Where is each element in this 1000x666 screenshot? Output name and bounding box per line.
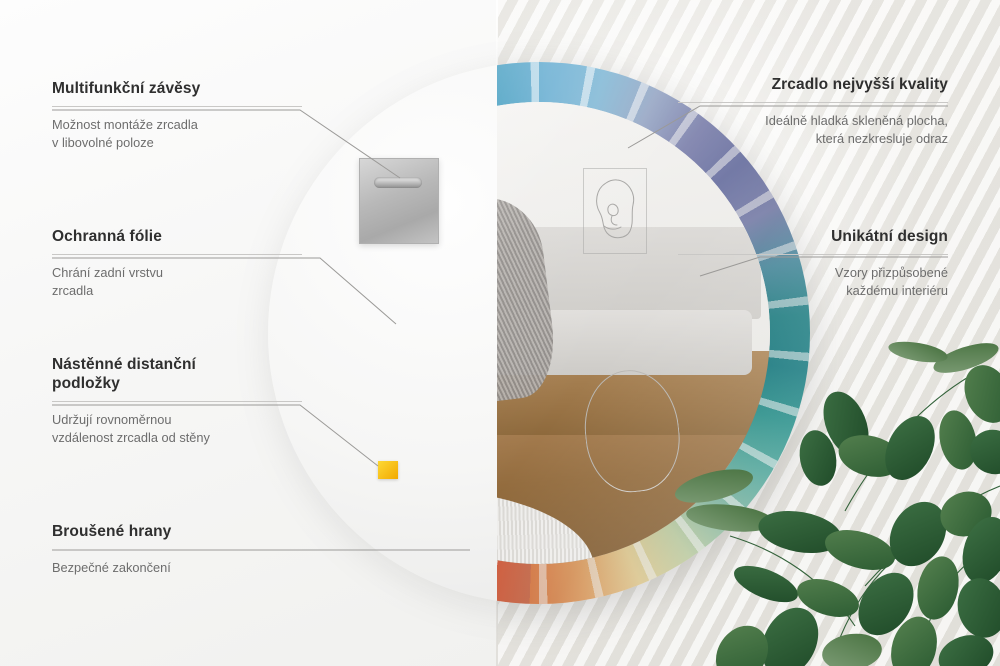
feature-body-hangers-line2: v libovolné poloze [52,134,302,152]
feature-body-foil-line1: Chrání zadní vrstvu [52,264,302,282]
feature-title-hangers: Multifunkční závěsy [52,80,302,99]
feature-block-design: Unikátní design Vzory přizpůsobené každé… [678,228,948,300]
feature-title-foil: Ochranná fólie [52,228,302,247]
feature-title-spacers: Nástěnné distanční podložky [52,356,302,394]
feature-title-spacers-line2: podložky [52,375,120,392]
feature-body-glass-line1: Ideálně hladká skleněná plocha, [678,112,948,130]
feature-body-edges-line1: Bezpečné zakončení [52,559,302,577]
feature-rule [52,549,302,550]
feature-rule [52,106,302,107]
wall-spacer-pad [378,461,398,479]
hanger-plate [359,158,439,244]
infographic-canvas: Multifunkční závěsy Možnost montáže zrca… [0,0,1000,666]
face-line-art-decal [583,168,647,254]
feature-body-spacers-line2: vzdálenost zrcadla od stěny [52,429,302,447]
feature-title-glass: Zrcadlo nejvyšší kvality [678,76,948,95]
face-line-art-icon [584,169,646,253]
feature-block-glass: Zrcadlo nejvyšší kvality Ideálně hladká … [678,76,948,148]
feature-title-design: Unikátní design [678,228,948,247]
feature-body-design-line1: Vzory přizpůsobené [678,264,948,282]
feature-body-glass-line2: která nezkresluje odraz [678,130,948,148]
feature-body-foil-line2: zrcadla [52,282,302,300]
feature-body-spacers-line1: Udržují rovnoměrnou [52,411,302,429]
feature-rule [52,254,302,255]
feature-rule [678,102,948,103]
feature-rule [678,254,948,255]
feature-title-spacers-line1: Nástěnné distanční [52,356,196,373]
feature-block-spacers: Nástěnné distanční podložky Udržují rovn… [52,356,302,447]
feature-rule [52,401,302,402]
feature-block-foil: Ochranná fólie Chrání zadní vrstvu zrcad… [52,228,302,300]
feature-body-design-line2: každému interiéru [678,282,948,300]
feature-block-hangers: Multifunkční závěsy Možnost montáže zrca… [52,80,302,152]
feature-block-edges: Broušené hrany Bezpečné zakončení [52,523,302,577]
feature-title-edges: Broušené hrany [52,523,302,542]
feature-body-hangers-line1: Možnost montáže zrcadla [52,116,302,134]
hanger-keyhole-slot [374,177,422,188]
product-back-disc [268,62,497,604]
